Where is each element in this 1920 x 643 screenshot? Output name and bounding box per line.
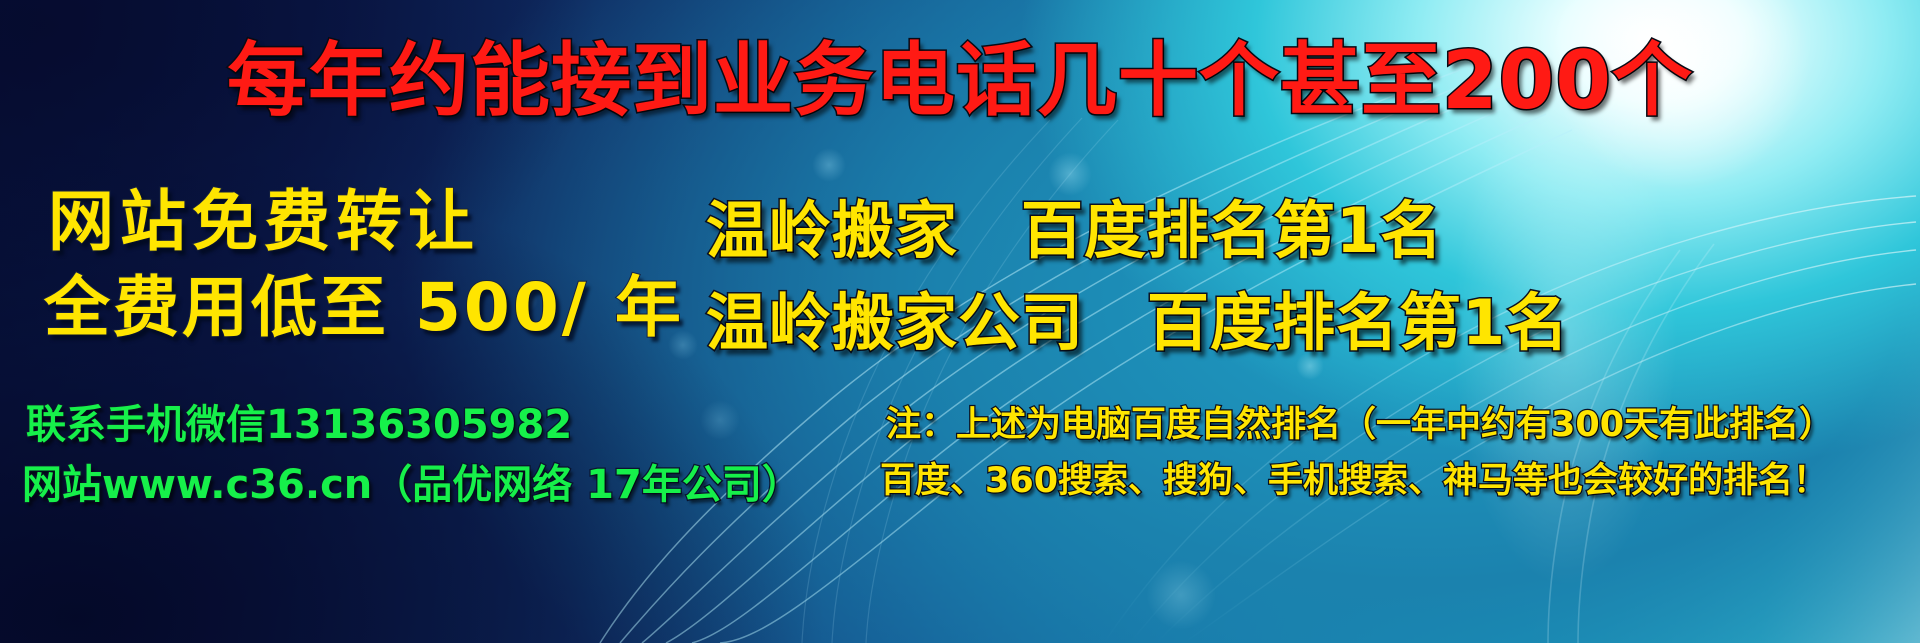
banner-headline: 每年约能接到业务电话几十个甚至200个 [0,16,1920,132]
ranking-line-wenling-moving-company: 温岭搬家公司 百度排名第1名 [706,272,1569,362]
contact-phone-wechat: 联系手机微信13136305982 [26,392,572,450]
note-line-baidu-natural-ranking: 注：上述为电脑百度自然排名（一年中约有300天有此排名） [886,396,1834,447]
offer-line-website-transfer: 网站免费转让 [48,168,480,264]
contact-website: 网站www.c36.cn（品优网络 17年公司） [22,452,802,510]
promo-banner: 每年约能接到业务电话几十个甚至200个 网站免费转让 全费用低至 500/ 年 … [0,0,1920,643]
offer-line-price: 全费用低至 500/ 年 [44,254,684,350]
note-line-other-engines: 百度、360搜索、搜狗、手机搜索、神马等也会较好的排名！ [880,452,1828,503]
ranking-line-wenling-moving: 温岭搬家 百度排名第1名 [706,180,1443,270]
